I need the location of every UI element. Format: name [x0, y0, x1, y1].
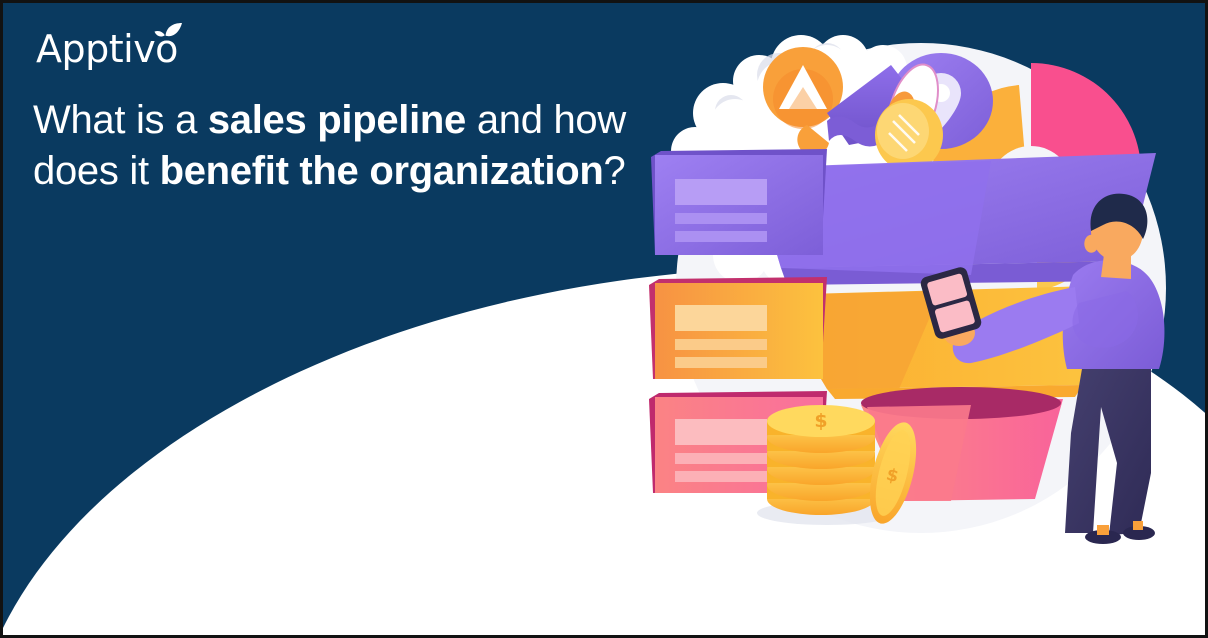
headline-text: and how — [466, 98, 626, 142]
headline-emphasis: sales pipeline — [208, 98, 466, 142]
headline-text: does it — [33, 149, 160, 193]
headline-text: ? — [604, 149, 626, 193]
illustration-svg: $ $ — [631, 3, 1208, 603]
headline-text: What is a — [33, 98, 208, 142]
headline-emphasis: benefit the organization — [160, 149, 604, 193]
promo-banner: Apptivo What is a sales pipeline and how… — [0, 0, 1208, 638]
headline-line-1: What is a sales pipeline and how — [33, 95, 653, 146]
page-title: What is a sales pipeline and how does it… — [33, 95, 653, 197]
brand-name: Apptivo — [36, 27, 178, 71]
orange-card-icon — [649, 277, 827, 379]
apptivo-logo[interactable]: Apptivo — [36, 25, 246, 73]
headline-line-2: does it benefit the organization? — [33, 146, 653, 197]
sales-funnel-illustration: $ $ — [631, 3, 1208, 603]
purple-card-icon — [651, 149, 827, 255]
svg-text:$: $ — [814, 410, 827, 432]
